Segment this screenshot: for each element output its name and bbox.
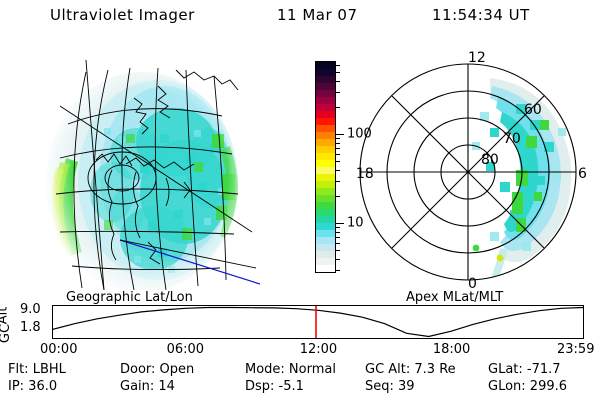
colorbar-band — [316, 258, 335, 265]
colorbar-band — [316, 111, 335, 118]
colorbar-band — [316, 195, 335, 202]
colorbar-band — [316, 251, 335, 258]
polar-grid — [360, 64, 576, 280]
orbit-xtick-label: 18:00 — [433, 342, 470, 357]
intensity-colorbar: photon cm-2s-1 10010 — [268, 52, 346, 290]
orbit-y-axis-label: Alt GC — [3, 304, 19, 344]
colorbar-band — [316, 181, 335, 188]
colorbar-band — [316, 125, 335, 132]
colorbar-band — [316, 237, 335, 244]
colorbar-band — [316, 132, 335, 139]
orbit-xtick-label: 06:00 — [167, 342, 204, 357]
mlt-label-0: 0 — [468, 276, 477, 290]
colorbar-band — [316, 244, 335, 251]
polar-projection-svg: 12 18 6 0 60 70 80 — [340, 42, 596, 290]
orbit-xtick-label: 23:59 — [557, 342, 594, 357]
colorbar-band — [316, 139, 335, 146]
orbit-altitude-trace — [53, 308, 583, 337]
status-flight-mode: Flt: LBHL — [8, 362, 66, 377]
colorbar-band — [316, 69, 335, 76]
geographic-projection-svg — [8, 42, 260, 290]
colorbar-band — [316, 146, 335, 153]
colorbar-band — [316, 104, 335, 111]
orbit-ytick-min: 1.8 — [20, 320, 41, 335]
header-bar: Ultraviolet Imager 11 Mar 07 11:54:34 UT — [0, 6, 600, 30]
colorbar-band — [316, 174, 335, 181]
colorbar-color-stack — [316, 62, 335, 272]
colorbar-gradient-box — [315, 61, 336, 273]
colorbar-band — [316, 223, 335, 230]
orbit-altitude-plot[interactable]: Alt GC 9.0 1.8 00:0006:0012:0018:0023:59 — [0, 304, 600, 356]
mlt-label-12: 12 — [468, 50, 486, 66]
uvi-screenshot: Ultraviolet Imager 11 Mar 07 11:54:34 UT — [0, 0, 600, 400]
orbit-ylabel-gc: GC — [0, 324, 13, 343]
orbit-trace-svg — [53, 306, 583, 338]
orbit-xtick-label: 12:00 — [300, 342, 337, 357]
colorbar-band — [316, 97, 335, 104]
geographic-panel-caption: Geographic Lat/Lon — [66, 290, 193, 305]
mlat-label-60: 60 — [524, 102, 542, 118]
geographic-image-panel[interactable] — [8, 42, 260, 290]
polar-panel-caption: Apex MLat/MLT — [406, 290, 503, 305]
status-gc-alt: GC Alt: 7.3 Re — [365, 362, 456, 377]
orbit-ytick-max: 9.0 — [20, 302, 41, 317]
colorbar-band — [316, 62, 335, 69]
orbit-plot-box[interactable] — [52, 305, 584, 339]
status-glat: GLat: -71.7 — [488, 362, 561, 377]
observation-time: 11:54:34 UT — [432, 6, 530, 24]
colorbar-band — [316, 202, 335, 209]
colorbar-band — [316, 90, 335, 97]
mlt-label-18: 18 — [356, 166, 374, 182]
status-gain: Gain: 14 — [120, 379, 175, 394]
colorbar-band — [316, 83, 335, 90]
observation-date: 11 Mar 07 — [277, 6, 358, 24]
status-seq: Seq: 39 — [365, 379, 415, 394]
colorbar-band — [316, 216, 335, 223]
status-ip: IP: 36.0 — [8, 379, 57, 394]
orbit-ylabel-alt: Alt — [0, 307, 10, 325]
colorbar-band — [316, 153, 335, 160]
status-door: Door: Open — [120, 362, 194, 377]
mlt-label-6: 6 — [578, 166, 587, 182]
orbit-xtick-label: 00:00 — [40, 342, 77, 357]
polar-dial-panel[interactable]: 12 18 6 0 60 70 80 — [340, 42, 596, 290]
colorbar-band — [316, 76, 335, 83]
colorbar-band — [316, 265, 335, 272]
colorbar-band — [316, 188, 335, 195]
status-mode: Mode: Normal — [245, 362, 336, 377]
colorbar-band — [316, 209, 335, 216]
status-glon: GLon: 299.6 — [488, 379, 567, 394]
status-dsp: Dsp: -5.1 — [245, 379, 304, 394]
colorbar-band — [316, 167, 335, 174]
colorbar-band — [316, 230, 335, 237]
colorbar-band — [316, 160, 335, 167]
colorbar-band — [316, 118, 335, 125]
mlat-label-80: 80 — [481, 152, 499, 168]
status-readout: Flt: LBHL Door: Open Mode: Normal GC Alt… — [0, 362, 600, 400]
instrument-title: Ultraviolet Imager — [50, 6, 195, 24]
mlat-label-70: 70 — [503, 131, 521, 147]
